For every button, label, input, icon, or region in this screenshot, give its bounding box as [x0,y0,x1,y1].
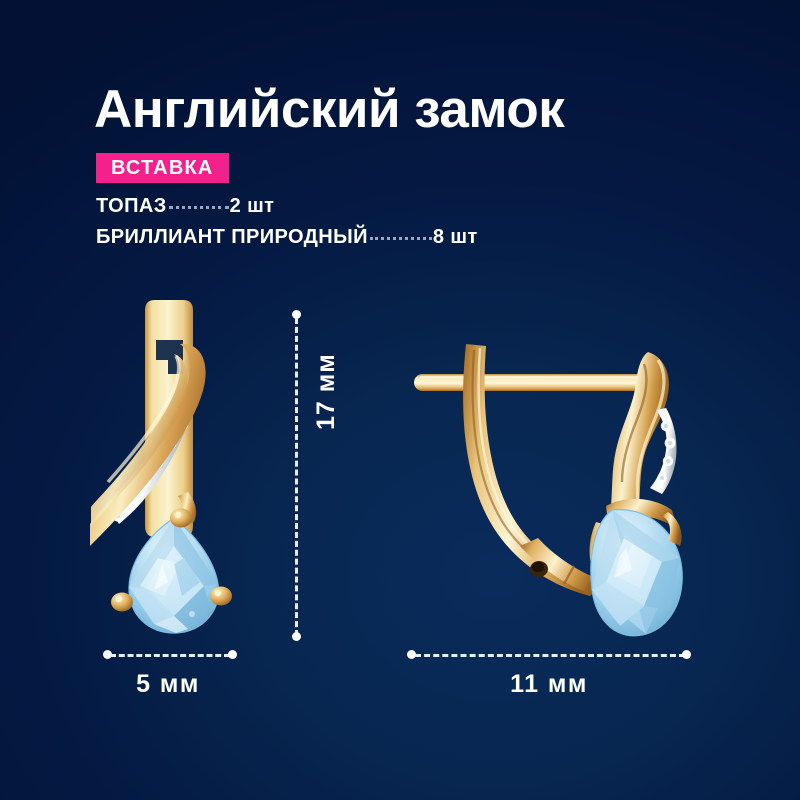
dimension-line-side-width [415,654,685,657]
dimension-line-height [295,318,298,636]
spec-row-topaz: ТОПАЗ 2 шт [96,195,274,218]
dimension-line-front-width [110,654,230,657]
dotted-leader [370,237,432,240]
dimension-endpoint-dot [228,650,237,659]
earring-front-view [88,296,268,646]
earring-side-view [400,330,710,640]
status-badge: ВСТАВКА [96,153,229,183]
spec-count: 8 шт [433,226,478,249]
spec-name: ТОПАЗ [96,195,167,218]
spec-name: БРИЛЛИАНТ ПРИРОДНЫЙ [96,226,368,249]
spec-count: 2 шт [230,195,275,218]
dimension-label-front-width: 5 мм [0,670,336,699]
product-infographic: Английский замок ВСТАВКА ТОПАЗ 2 шт БРИЛ… [0,0,800,800]
badge-label: ВСТАВКА [111,157,214,180]
dimension-label-side-width: 11 мм [409,670,689,699]
dimension-endpoint-dot [292,632,301,641]
dotted-leader [169,206,229,209]
page-title: Английский замок [94,82,564,138]
dimension-label-height: 17 мм [312,353,341,430]
dimension-endpoint-dot [682,650,691,659]
spec-row-diamond: БРИЛЛИАНТ ПРИРОДНЫЙ 8 шт [96,226,478,249]
